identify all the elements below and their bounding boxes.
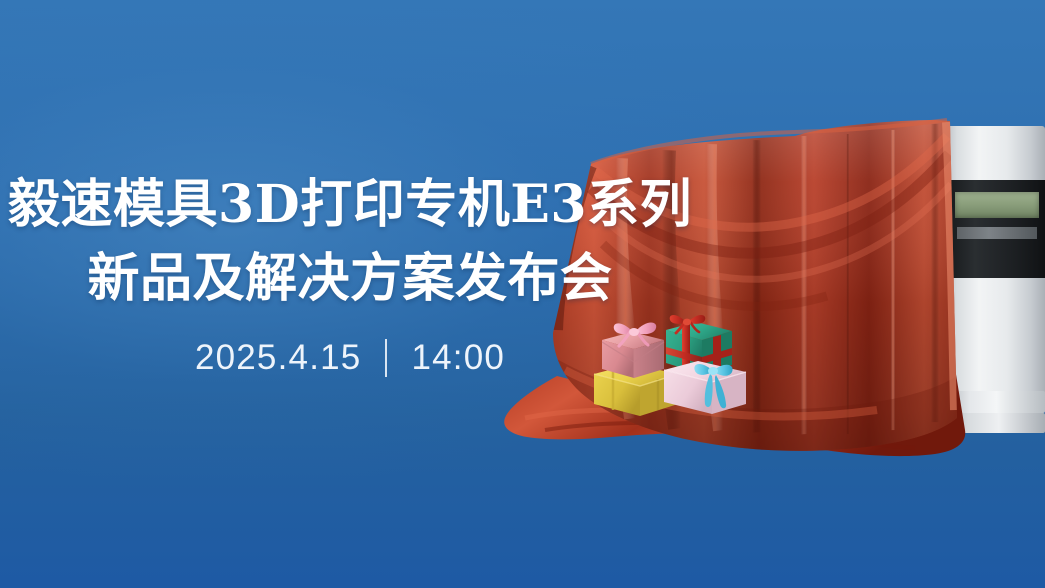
event-banner: 毅速模具3D打印专机E3系列 新品及解决方案发布会 2025.4.15 14:0… (0, 0, 1045, 588)
event-datetime: 2025.4.15 14:00 (0, 338, 700, 378)
datetime-separator (385, 339, 387, 377)
page-title-line-1: 毅速模具3D打印专机E3系列 (0, 168, 700, 242)
event-date: 2025.4.15 (195, 338, 362, 378)
event-time: 14:00 (411, 338, 505, 378)
page-title-line-2: 新品及解决方案发布会 (0, 242, 700, 316)
banner-text-block: 毅速模具3D打印专机E3系列 新品及解决方案发布会 2025.4.15 14:0… (0, 168, 700, 378)
